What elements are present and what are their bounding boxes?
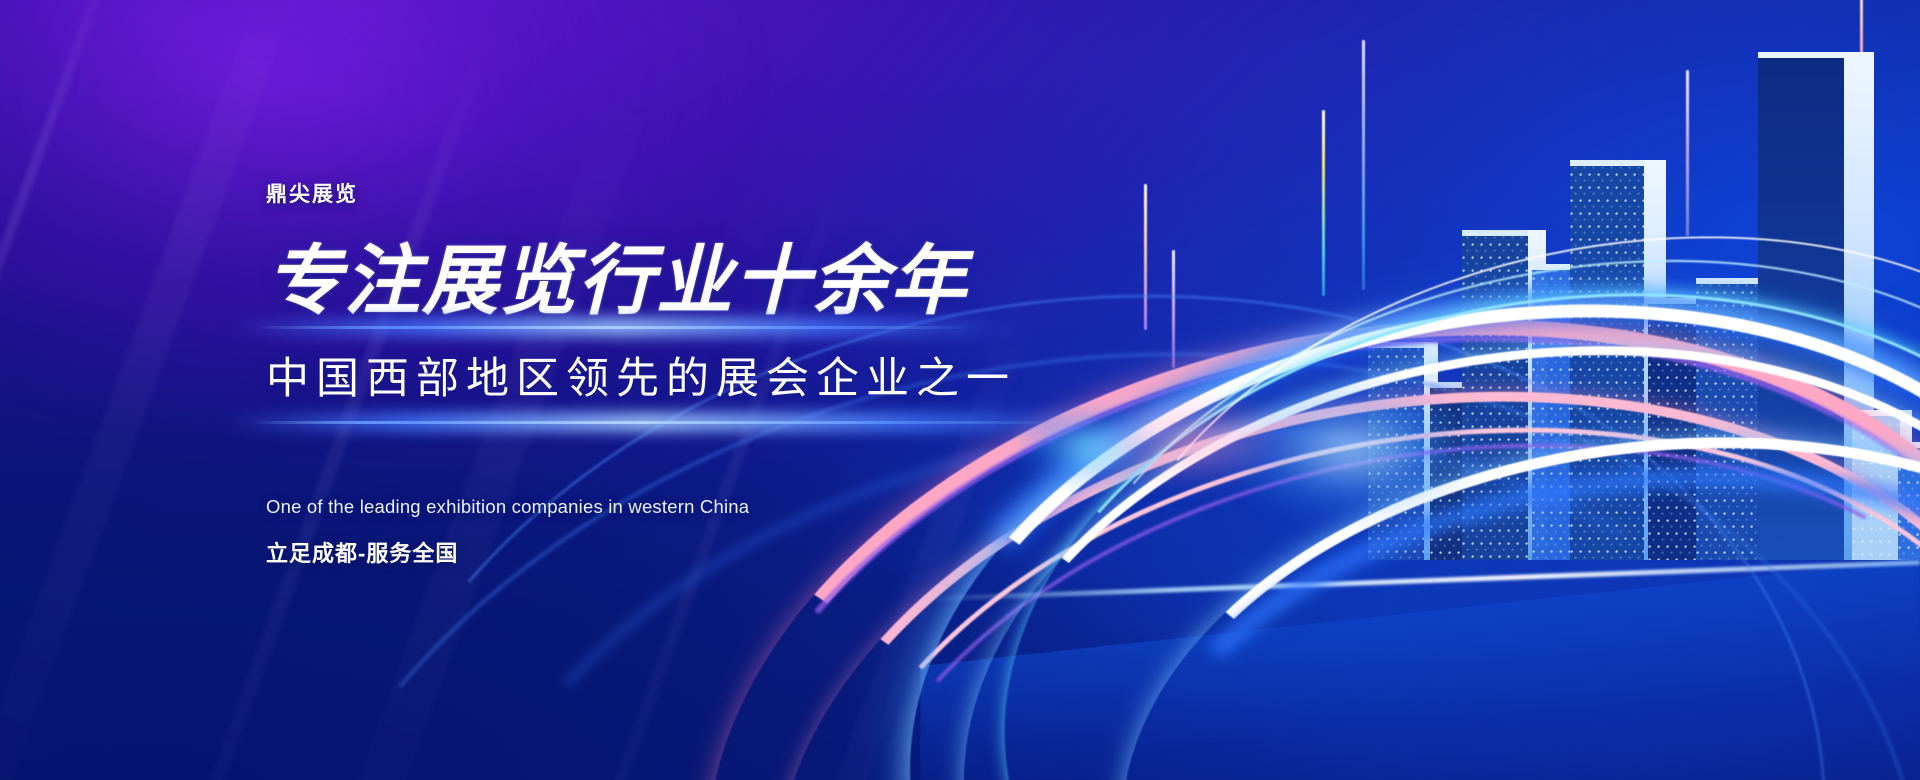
chinese-tagline: 立足成都-服务全国 (266, 536, 458, 568)
english-tagline: One of the leading exhibition companies … (266, 496, 749, 518)
hero-banner: 鼎尖展览 专注展览行业十余年 中国西部地区领先的展会企业之一 One of th… (0, 0, 1920, 780)
hero-copy: 鼎尖展览 专注展览行业十余年 中国西部地区领先的展会企业之一 One of th… (266, 178, 1266, 406)
page-title: 专注展览行业十余年 (266, 244, 1266, 320)
subtitle-glow-rule-halo (222, 413, 1102, 431)
brand-name: 鼎尖展览 (266, 178, 1266, 208)
headline-glow-rule-halo (226, 318, 1016, 336)
page-subtitle: 中国西部地区领先的展会企业之一 (266, 344, 1266, 406)
